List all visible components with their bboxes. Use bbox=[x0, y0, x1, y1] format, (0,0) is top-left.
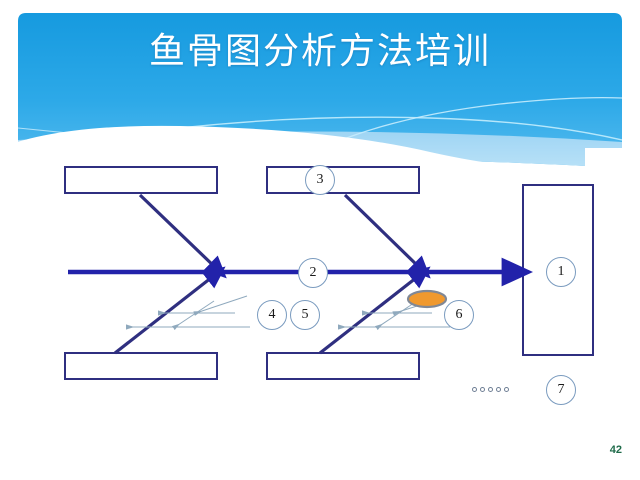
dot-icon bbox=[496, 387, 501, 392]
root-cause-ellipse[interactable] bbox=[408, 291, 446, 307]
dot-icon bbox=[504, 387, 509, 392]
marker-2[interactable]: 2 bbox=[298, 258, 328, 288]
marker-5[interactable]: 5 bbox=[290, 300, 320, 330]
dots-row bbox=[472, 387, 509, 392]
top-right-box[interactable] bbox=[267, 167, 419, 193]
marker-7[interactable]: 7 bbox=[546, 375, 576, 405]
dot-icon bbox=[480, 387, 485, 392]
sub-feeder-left-b bbox=[175, 301, 214, 327]
dot-icon bbox=[472, 387, 477, 392]
sub-feeder-right-b bbox=[378, 303, 414, 327]
bottom-right-box[interactable] bbox=[267, 353, 419, 379]
marker-1[interactable]: 1 bbox=[546, 257, 576, 287]
top-left-box[interactable] bbox=[65, 167, 217, 193]
fishbone-diagram bbox=[0, 0, 640, 480]
bone-top-left bbox=[140, 195, 218, 270]
bone-top-right bbox=[345, 195, 422, 270]
bottom-left-box[interactable] bbox=[65, 353, 217, 379]
marker-4[interactable]: 4 bbox=[257, 300, 287, 330]
page-number: 42 bbox=[610, 444, 622, 456]
marker-3[interactable]: 3 bbox=[305, 165, 335, 195]
sub-feeder-left-a bbox=[196, 296, 247, 313]
marker-6[interactable]: 6 bbox=[444, 300, 474, 330]
dot-icon bbox=[488, 387, 493, 392]
slide-canvas: 鱼骨图分析方法培训 bbox=[0, 0, 640, 480]
